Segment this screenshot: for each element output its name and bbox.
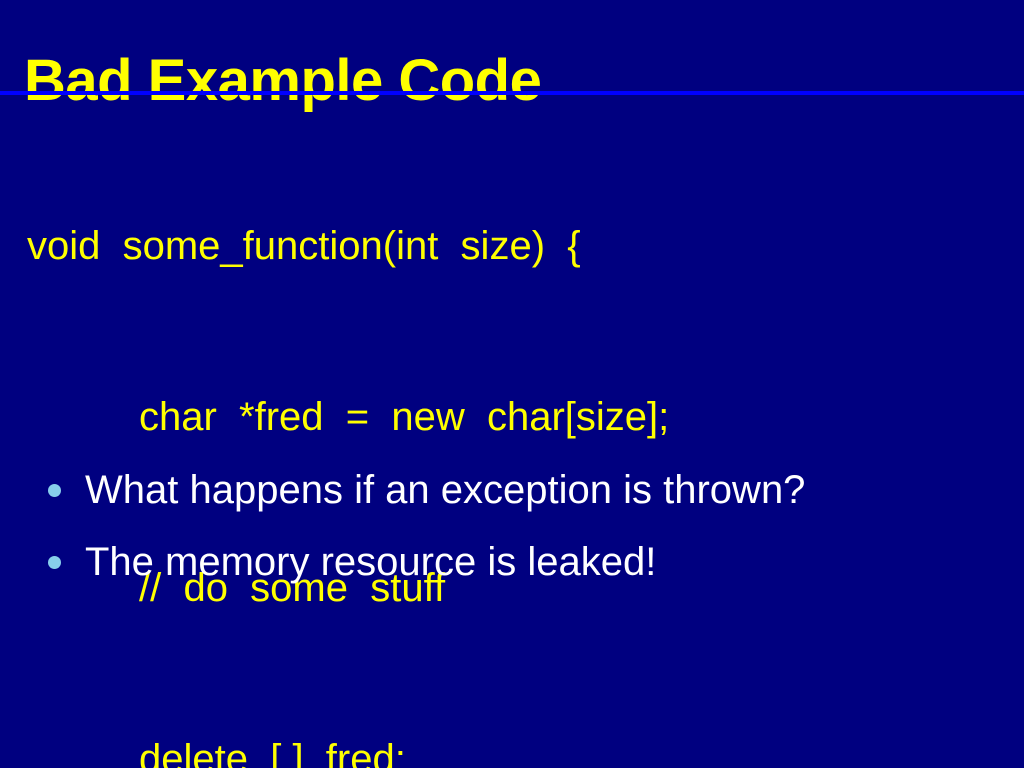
code-line: char *fred = new char[size]; — [0, 389, 1024, 446]
slide-canvas: Bad Example Code void some_function(int … — [0, 0, 1024, 768]
bullet-dot-icon — [48, 556, 61, 569]
title-divider-rule — [0, 91, 1024, 95]
list-item-label: The memory resource is leaked! — [85, 527, 845, 597]
bullet-dot-icon — [48, 484, 61, 497]
code-block: void some_function(int size) { char *fre… — [0, 104, 1024, 768]
code-line: delete [ ] fred; — [0, 731, 1024, 768]
code-line: void some_function(int size) { — [0, 218, 1024, 275]
list-item-label: What happens if an exception is thrown? — [85, 455, 845, 525]
list-item: What happens if an exception is thrown? — [0, 455, 960, 525]
list-item: The memory resource is leaked! — [0, 527, 960, 597]
bullet-list: What happens if an exception is thrown? … — [0, 455, 960, 599]
